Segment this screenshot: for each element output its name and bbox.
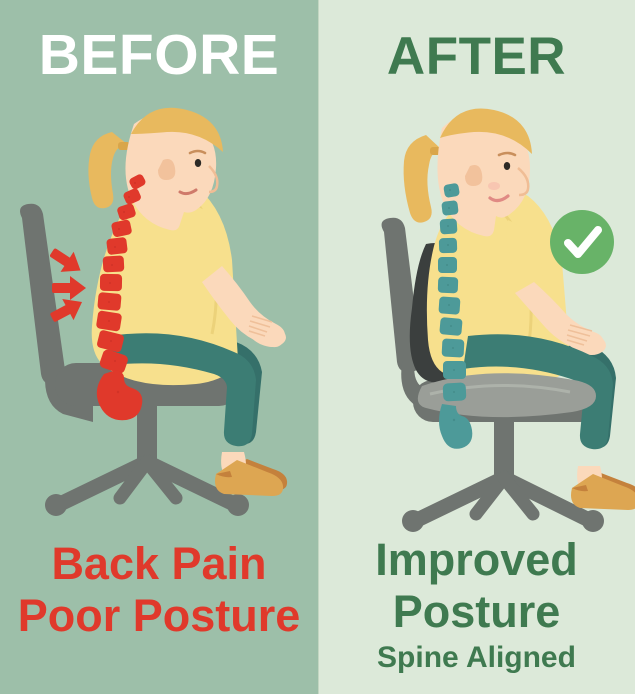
before-caption-line-1: Back Pain <box>0 538 318 590</box>
after-caption-line-2: Posture <box>318 586 635 638</box>
posture-comparison-infographic: BEFORE Back Pain Poor Posture <box>0 0 635 694</box>
after-caption-block: Improved Posture Spine Aligned <box>318 534 635 676</box>
panel-divider <box>318 0 319 694</box>
after-caption-line-1: Improved <box>318 534 635 586</box>
pressure-arrow-2 <box>52 276 86 300</box>
after-panel: AFTER Improved Posture Spine Aligned <box>318 0 635 694</box>
check-circle-icon <box>550 210 614 274</box>
before-panel: BEFORE Back Pain Poor Posture <box>0 0 318 694</box>
after-caption-line-3: Spine Aligned <box>318 641 635 676</box>
before-caption-line-2: Poor Posture <box>0 590 318 642</box>
before-caption-block: Back Pain Poor Posture <box>0 538 318 642</box>
pressure-arrow-1 <box>45 242 87 281</box>
after-figure <box>404 109 635 510</box>
after-heading: AFTER <box>318 30 635 83</box>
before-heading: BEFORE <box>0 27 318 84</box>
